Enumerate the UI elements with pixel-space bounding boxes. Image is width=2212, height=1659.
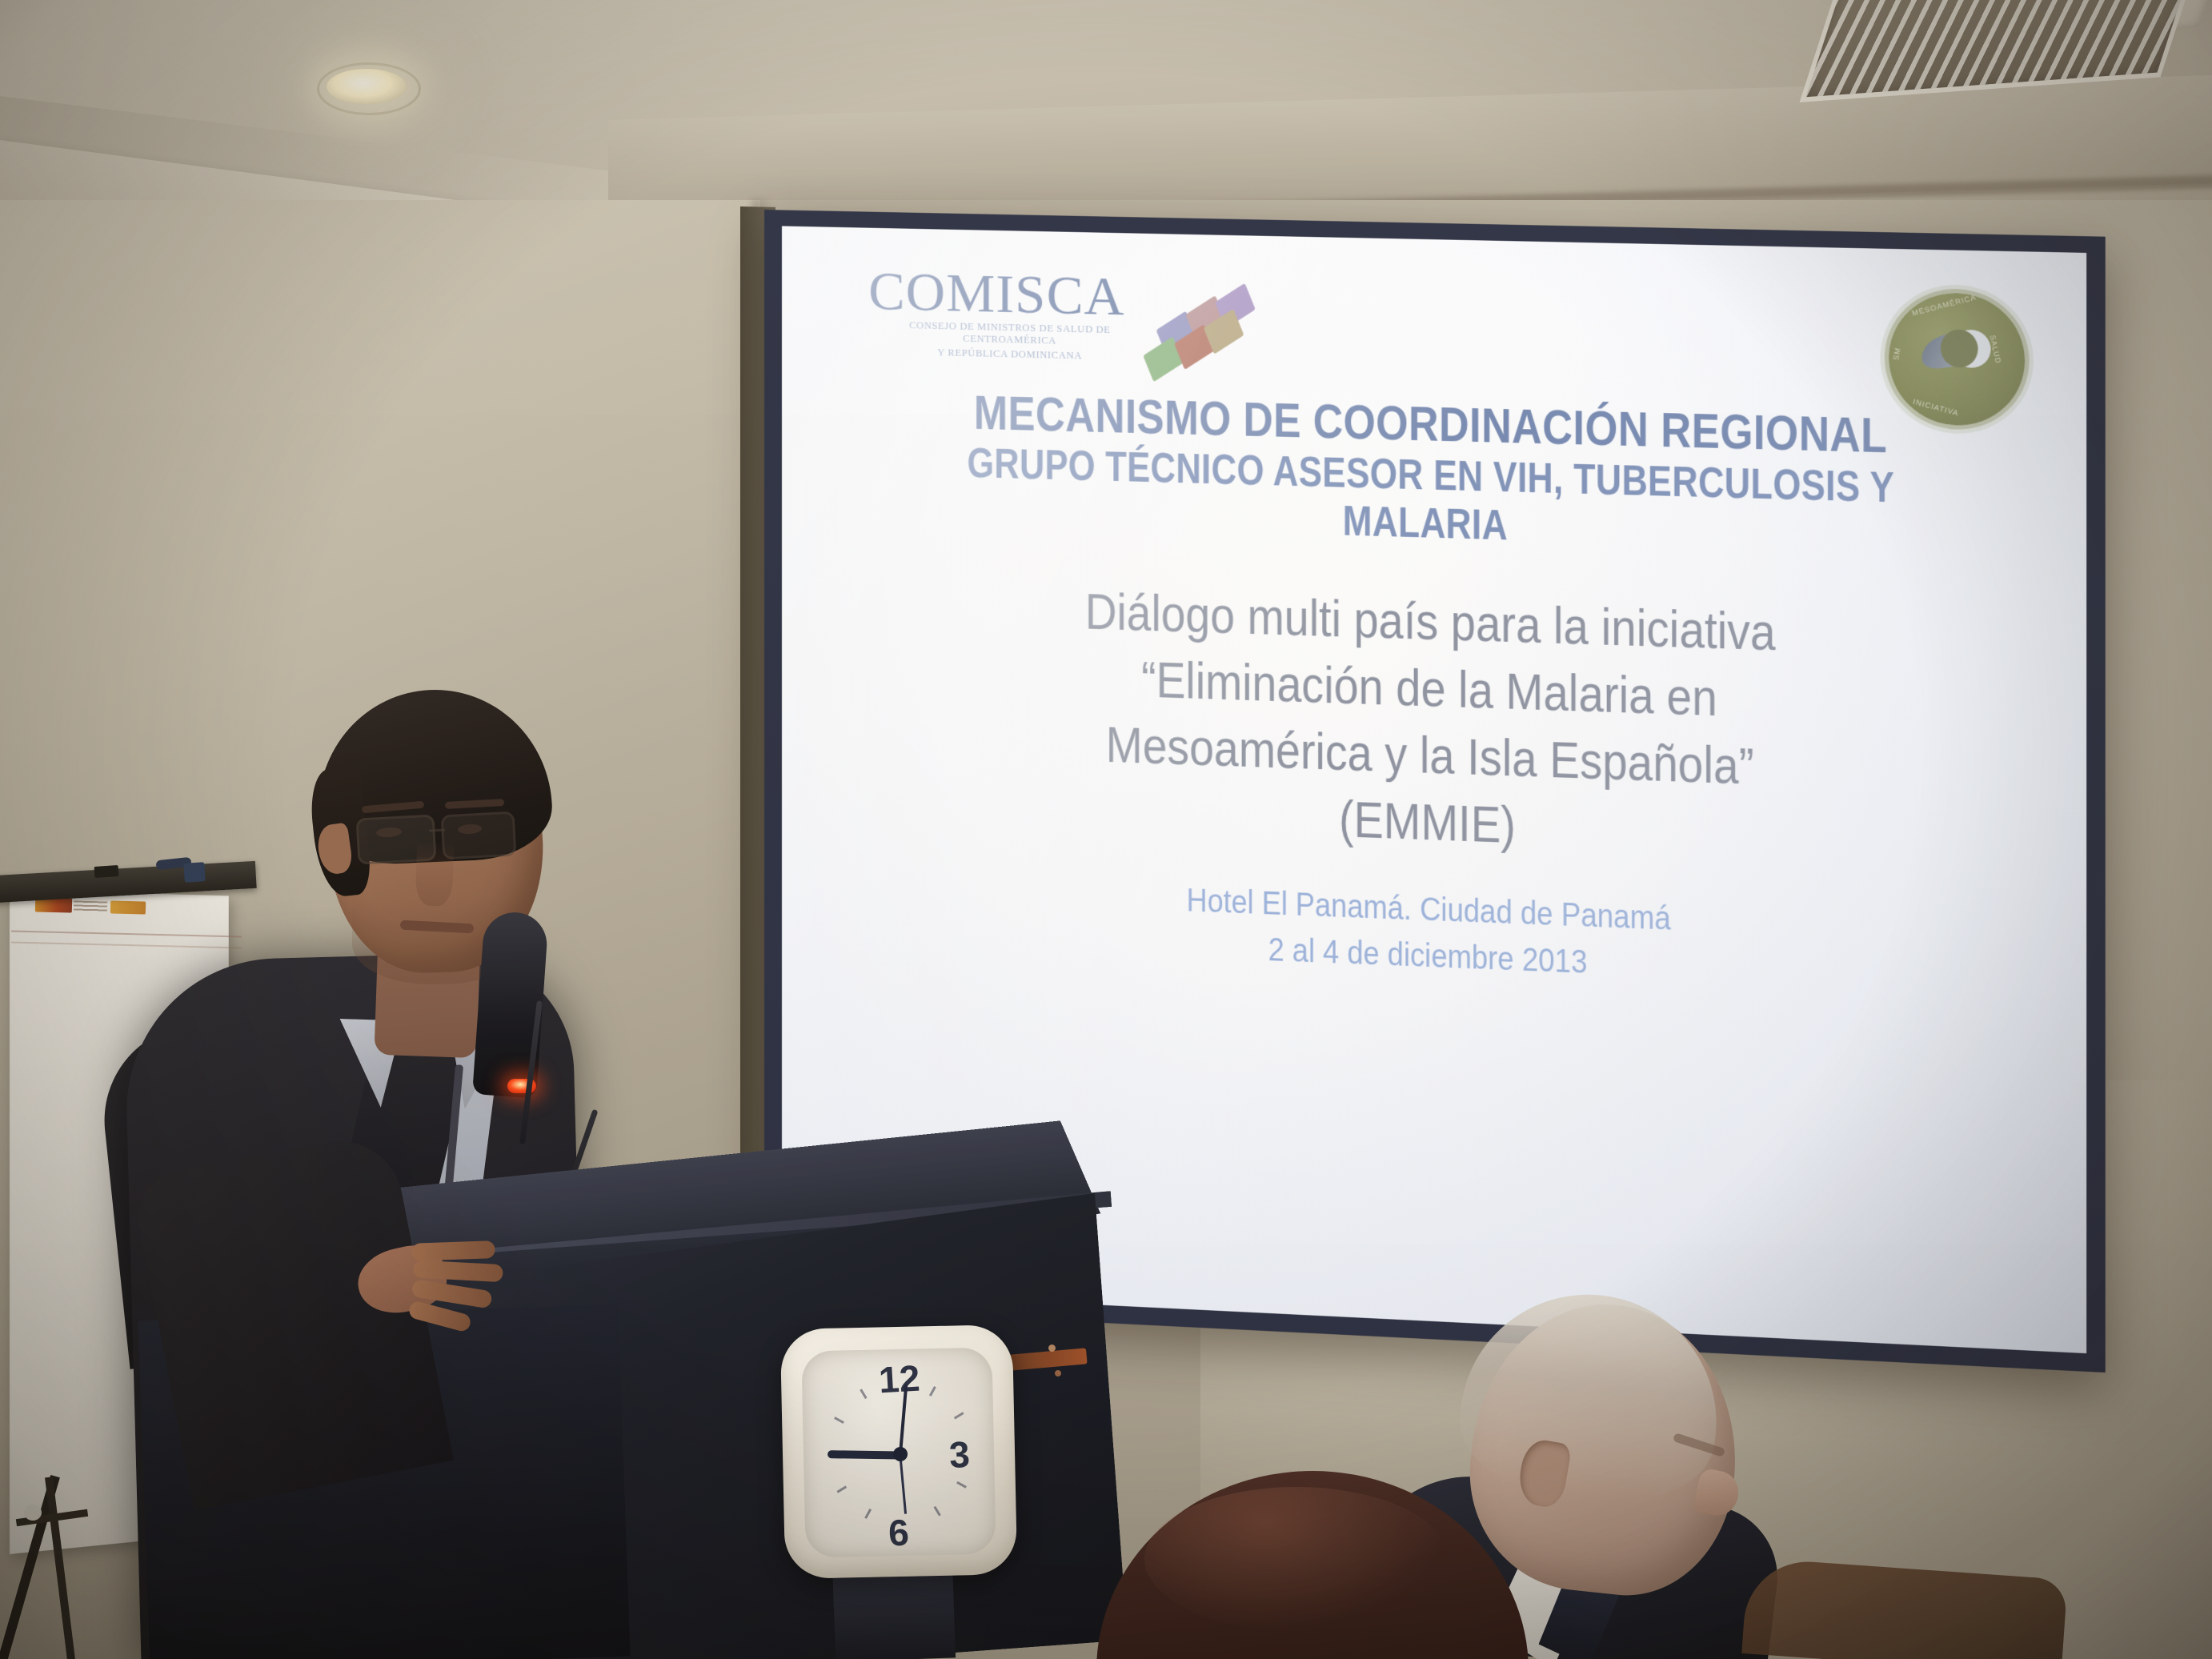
clock-tick [864, 1509, 872, 1519]
flipchart-clip [94, 865, 119, 878]
ceiling-light-icon [327, 69, 407, 104]
clock-numeral-12: 12 [878, 1360, 921, 1399]
flipchart-logo-icon [110, 900, 146, 914]
audience-front-hair-highlight [1144, 1487, 1449, 1631]
marker-pen-icon [183, 862, 206, 883]
finger [407, 1300, 472, 1332]
podium-indicator [1055, 1370, 1061, 1376]
podium-indicator [1048, 1344, 1056, 1352]
clock-tick [836, 1485, 847, 1493]
clock-numeral-6: 6 [888, 1513, 910, 1551]
comisca-logo: COMISCA CONSEJO DE MINISTROS DE SALUD DE… [868, 265, 1209, 366]
clock-tick [860, 1389, 867, 1399]
clock-face: 12 3 6 [801, 1348, 996, 1558]
seal-arc-top: MESOAMÉRICA [1911, 293, 1978, 318]
clock-numeral-3: 3 [948, 1436, 971, 1473]
comisca-diamond-icon [1152, 286, 1258, 377]
slide-footer: Hotel El Panamá. Ciudad de Panamá 2 al 4… [915, 868, 1954, 1000]
clock-tick [933, 1506, 940, 1517]
finger [411, 1240, 495, 1261]
initiative-seal-icon: MESOAMÉRICA SALUD INICIATIVA SM [1889, 291, 2025, 427]
slide-body: Diálogo multi país para la iniciativa “E… [926, 575, 1942, 876]
speaker-nose [415, 841, 455, 907]
conference-photo-scene: COMISCA CONSEJO DE MINISTROS DE SALUD DE… [0, 0, 2212, 1659]
wall-clock: 12 3 6 [780, 1324, 1017, 1579]
flipchart-logo-text [74, 900, 107, 912]
clock-tick [834, 1417, 844, 1424]
easel-knob [24, 1505, 42, 1521]
seal-arc-left: SM [1892, 347, 1902, 361]
clock-tick [954, 1412, 964, 1419]
seal-ring-text: MESOAMÉRICA SALUD INICIATIVA SM [1889, 291, 2025, 427]
clock-tick [956, 1481, 967, 1489]
slide-headline: MECANISMO DE COORDINACIÓN REGIONAL GRUPO… [924, 387, 1939, 561]
clock-center-pin [893, 1447, 908, 1461]
seal-arc-right: SALUD [1988, 335, 2002, 364]
clock-tick [929, 1386, 936, 1397]
